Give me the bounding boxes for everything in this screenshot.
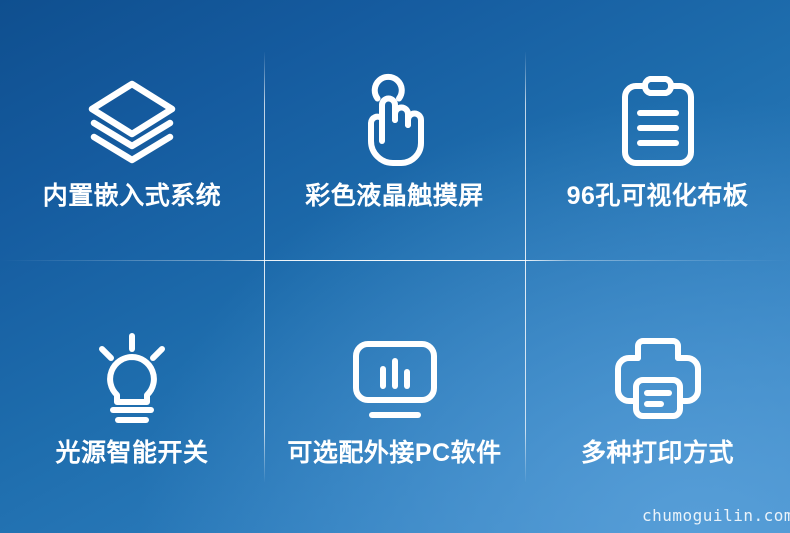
- feature-panel: 内置嵌入式系统 彩色液晶触摸屏: [0, 0, 790, 533]
- feature-grid: 内置嵌入式系统 彩色液晶触摸屏: [0, 0, 790, 533]
- layers-stack-icon: [84, 75, 180, 167]
- feature-item-printing[interactable]: 多种打印方式: [525, 260, 790, 533]
- feature-item-pc-software[interactable]: 可选配外接PC软件: [264, 260, 525, 533]
- feature-label: 多种打印方式: [581, 440, 734, 468]
- feature-label: 内置嵌入式系统: [43, 183, 222, 211]
- lightbulb-icon: [89, 332, 175, 424]
- feature-item-touchscreen[interactable]: 彩色液晶触摸屏: [264, 0, 525, 260]
- feature-item-96-well-plate[interactable]: 96孔可视化布板: [525, 0, 790, 260]
- feature-label: 可选配外接PC软件: [287, 440, 501, 468]
- clipboard-icon: [618, 75, 698, 167]
- feature-label: 96孔可视化布板: [567, 183, 749, 211]
- printer-icon: [614, 332, 702, 424]
- feature-label: 光源智能开关: [55, 440, 208, 468]
- feature-item-light-switch[interactable]: 光源智能开关: [0, 260, 264, 533]
- touch-hand-icon: [352, 75, 438, 167]
- feature-item-embedded-system[interactable]: 内置嵌入式系统: [0, 0, 264, 260]
- monitor-chart-icon: [347, 332, 443, 424]
- feature-label: 彩色液晶触摸屏: [305, 183, 484, 211]
